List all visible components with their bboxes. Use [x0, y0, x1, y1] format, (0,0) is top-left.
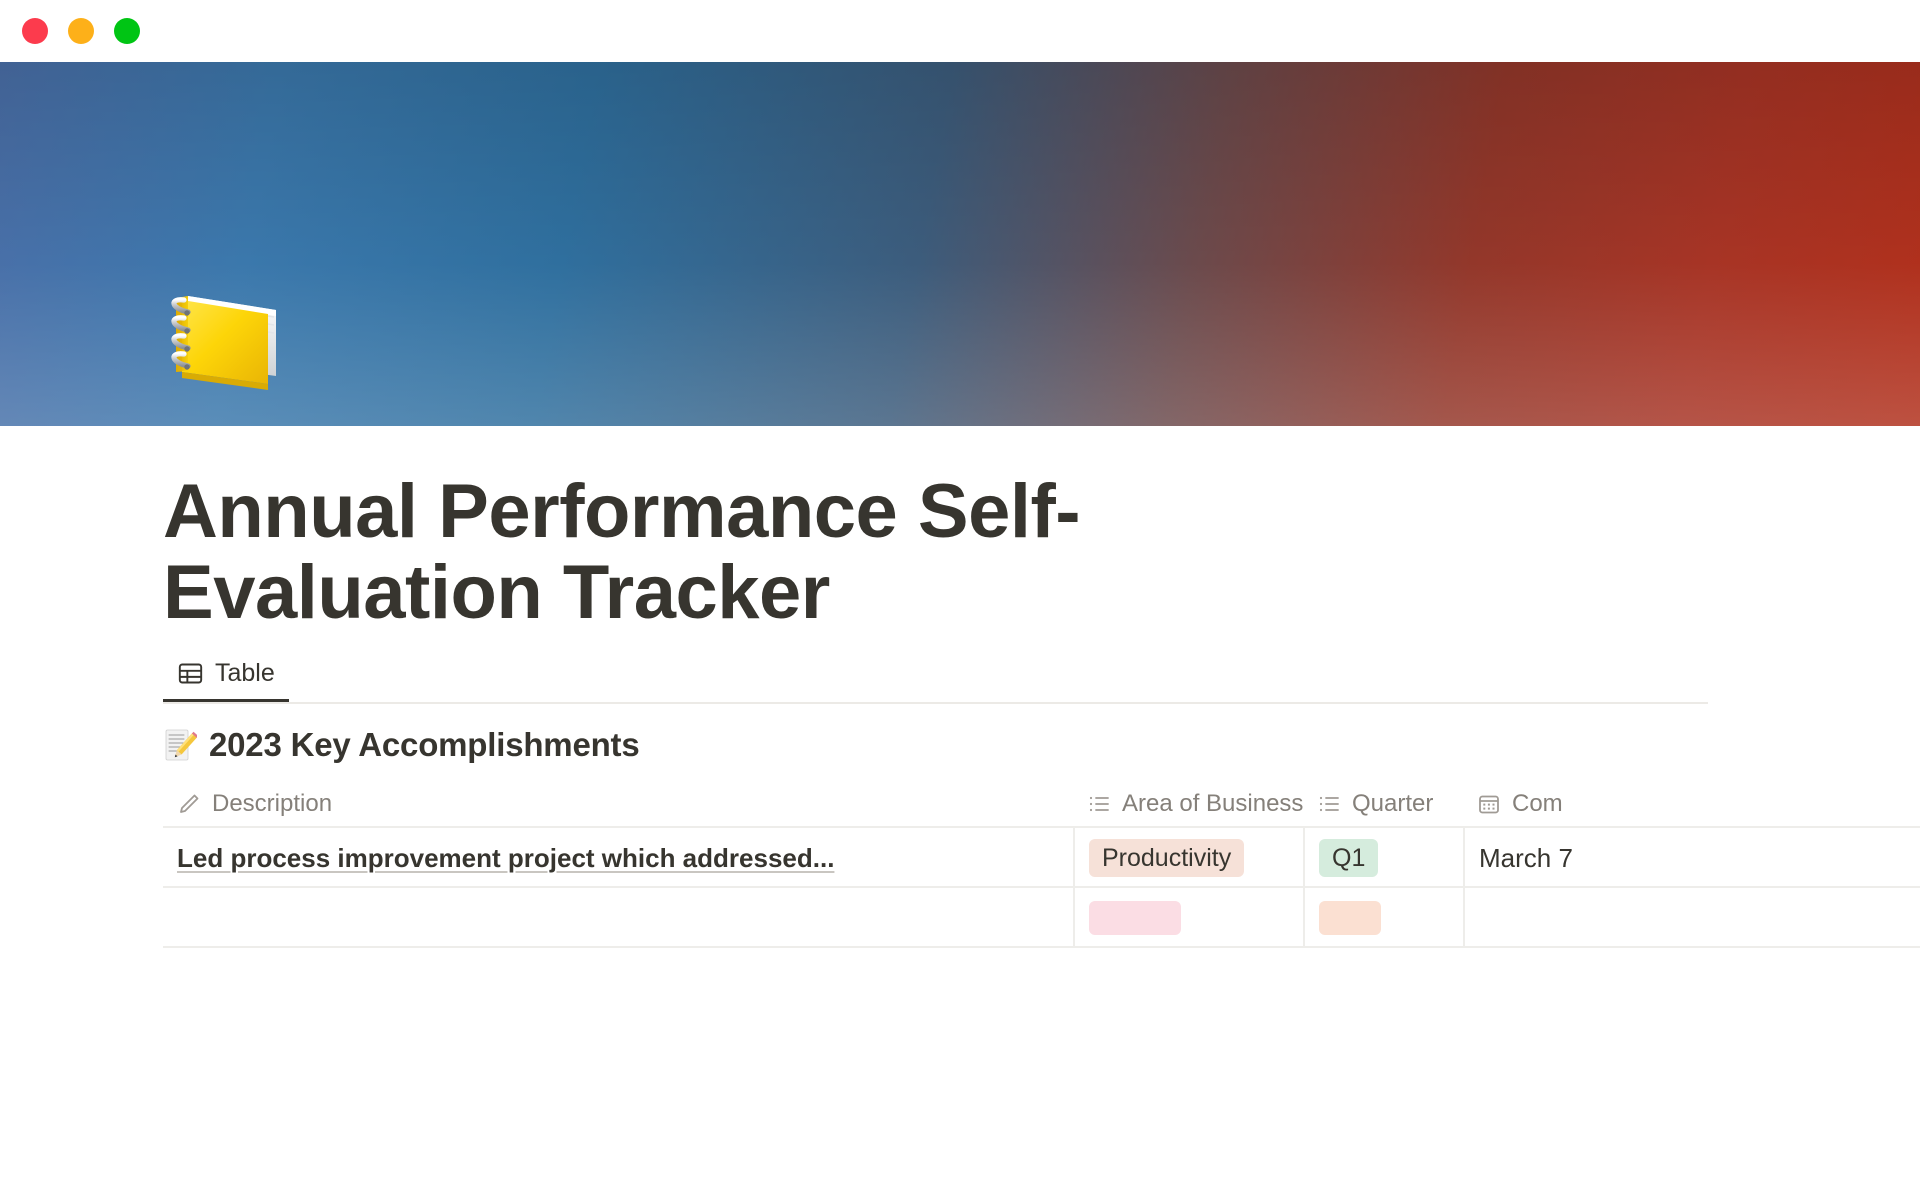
status-badge: Q1 [1319, 839, 1378, 877]
view-tab-bar: Table [163, 648, 1708, 704]
window-title-bar [0, 0, 1920, 62]
table-row[interactable] [163, 888, 1920, 948]
status-badge [1089, 901, 1181, 935]
pencil-icon [177, 792, 201, 816]
cell-area-of-business[interactable]: Productivity [1073, 828, 1303, 888]
column-header-area-of-business-label: Area of Business [1122, 790, 1303, 818]
tab-table-label: Table [215, 659, 275, 688]
database-title-row[interactable]: 2023 Key Accomplishments [163, 726, 640, 764]
completed-date-value: March 7 [1479, 843, 1573, 874]
select-list-icon [1317, 792, 1341, 816]
column-header-quarter-label: Quarter [1352, 790, 1433, 818]
traffic-lights [22, 18, 140, 44]
status-badge [1319, 901, 1381, 935]
cell-completed-date[interactable]: March 7 [1463, 828, 1920, 888]
cell-quarter[interactable]: Q1 [1303, 828, 1463, 888]
cell-completed-date[interactable] [1463, 888, 1920, 948]
cell-description[interactable]: Led process improvement project which ad… [163, 828, 1073, 888]
database-table: Description Area of Business [163, 782, 1920, 948]
column-header-area-of-business[interactable]: Area of Business [1073, 781, 1303, 827]
column-header-completed-date-label: Com [1512, 790, 1563, 818]
close-window-button[interactable] [22, 18, 48, 44]
column-header-completed-date[interactable]: Com [1463, 781, 1920, 827]
row-title-link[interactable]: Led process improvement project which ad… [177, 843, 834, 874]
cell-quarter[interactable] [1303, 888, 1463, 948]
cell-description[interactable] [163, 888, 1073, 948]
select-list-icon [1087, 792, 1111, 816]
cell-area-of-business[interactable] [1073, 888, 1303, 948]
page-title[interactable]: Annual Performance Self-Evaluation Track… [163, 472, 1343, 633]
column-header-description-label: Description [212, 790, 332, 818]
tab-table[interactable]: Table [163, 648, 289, 702]
table-row[interactable]: Led process improvement project which ad… [163, 828, 1920, 888]
minimize-window-button[interactable] [68, 18, 94, 44]
table-header-row: Description Area of Business [163, 782, 1920, 828]
maximize-window-button[interactable] [114, 18, 140, 44]
status-badge: Productivity [1089, 839, 1244, 877]
page-content: Annual Performance Self-Evaluation Track… [0, 426, 1920, 1200]
calendar-icon [1477, 792, 1501, 816]
column-header-quarter[interactable]: Quarter [1303, 781, 1463, 827]
table-icon [177, 660, 204, 687]
memo-emoji-icon [163, 728, 197, 762]
notebook-emoji-icon[interactable] [158, 272, 290, 404]
column-header-description[interactable]: Description [163, 781, 1073, 827]
database-title: 2023 Key Accomplishments [209, 726, 640, 764]
